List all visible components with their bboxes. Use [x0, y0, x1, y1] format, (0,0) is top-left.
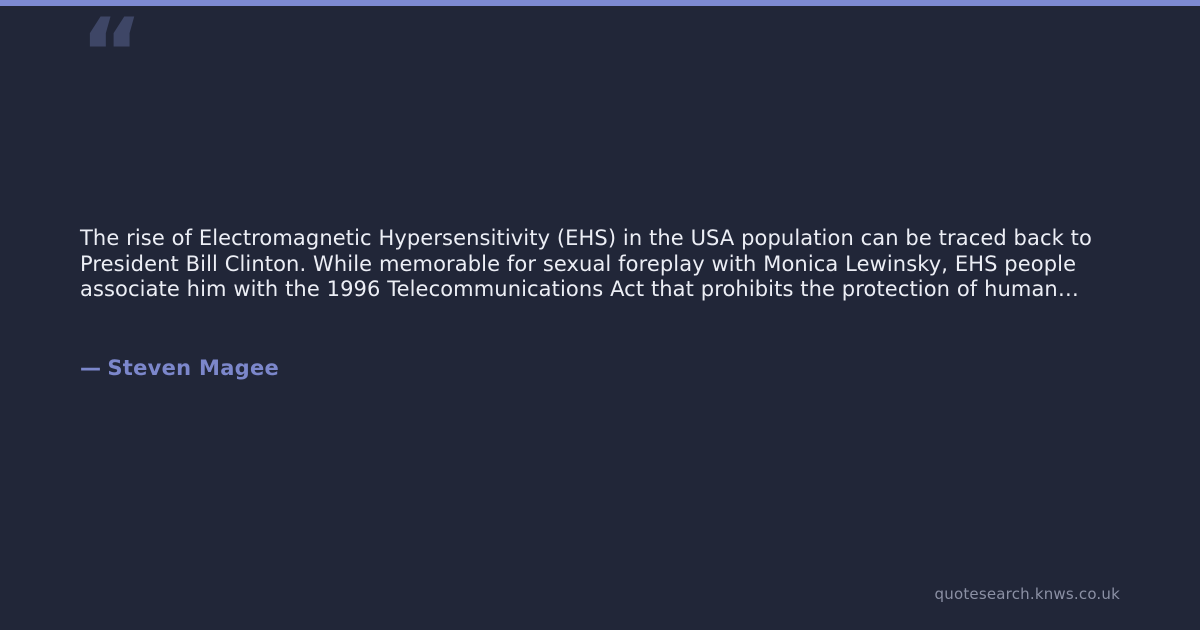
- source-url: quotesearch.knws.co.uk: [935, 585, 1120, 604]
- quote-attribution: —Steven Magee: [80, 354, 279, 382]
- top-accent-bar: [0, 0, 1200, 6]
- author-name: Steven Magee: [107, 356, 279, 380]
- em-dash-icon: —: [80, 356, 101, 380]
- quote-card: “ The rise of Electromagnetic Hypersensi…: [0, 0, 1200, 630]
- opening-quote-icon: “: [80, 6, 141, 102]
- quote-text: The rise of Electromagnetic Hypersensiti…: [80, 226, 1114, 303]
